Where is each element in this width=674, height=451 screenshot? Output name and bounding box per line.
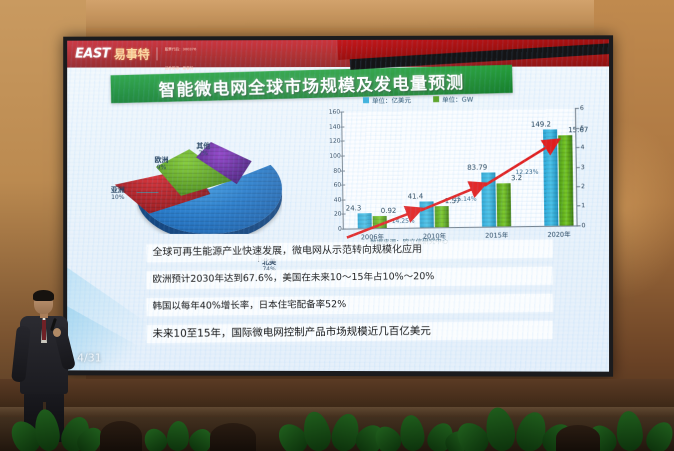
foreground-plant-3 bbox=[384, 415, 462, 451]
y-tick-left-40: 40 bbox=[321, 196, 341, 203]
presenter-hair bbox=[33, 290, 54, 301]
bar-chart-plot-area: 0 20 40 60 80 100 120 140 160 0 1 2 3 4 … bbox=[341, 108, 577, 230]
y-tick-right-4: 4 bbox=[580, 144, 592, 151]
conference-room-photo: EAST 易事特 股票代码：300376 证券简称：易事特 —— 能源网系统集成… bbox=[0, 0, 674, 451]
y-tick-left-0: 0 bbox=[322, 226, 342, 233]
bullet-line-1: 全球可再生能源产业快速发展，微电网从示范转向规模化应用 bbox=[146, 240, 552, 263]
audience-head-1 bbox=[100, 421, 142, 451]
y-tick-right-6: 6 bbox=[580, 105, 592, 112]
pie-label-other: 其他 7% bbox=[196, 142, 210, 158]
audience-head-3 bbox=[556, 425, 600, 451]
presenter-hand bbox=[53, 328, 61, 337]
bullet-line-2: 欧洲预计2030年达到67.6%，美国在未来10～15年占10%～20% bbox=[146, 267, 552, 290]
pie-chart-graphic: 亚洲 10% 欧洲 9% 其他 7% 北美 74% bbox=[113, 130, 280, 234]
logo-chinese-text: 易事特 bbox=[114, 45, 150, 62]
bar-capacity-2006: 0.92 bbox=[373, 216, 387, 228]
x-label-2020: 2020年 bbox=[547, 228, 570, 238]
pie-label-europe-value: 9% bbox=[155, 164, 169, 172]
wall-top bbox=[0, 0, 674, 28]
y-tick-right-3: 3 bbox=[581, 163, 593, 170]
logo-subtext-line2: 证券简称：易事特 bbox=[165, 66, 194, 70]
logo-divider bbox=[157, 47, 158, 60]
bullet-line-3: 韩国以每年40%增长率，日本住宅配备率52% bbox=[146, 294, 552, 316]
bullet-text-block: 全球可再生能源产业快速发展，微电网从示范转向规模化应用 欧洲预计2030年达到6… bbox=[147, 242, 553, 351]
bar-revenue-2006: 24.3 bbox=[358, 213, 372, 228]
presenter-tie bbox=[42, 320, 46, 340]
logo-subtext-line1: 股票代码：300376 bbox=[165, 47, 197, 51]
foreground-plant-2 bbox=[290, 411, 376, 451]
y-tick-left-60: 60 bbox=[321, 182, 341, 189]
bar-value-revenue-2006: 24.3 bbox=[346, 204, 362, 212]
bar-value-revenue-2020: 149.2 bbox=[531, 120, 551, 128]
legend-label-capacity: 单位：GW bbox=[442, 94, 473, 104]
bar-value-capacity-2006: 0.92 bbox=[381, 207, 397, 215]
bar-capacity-2020: 15.67 bbox=[558, 135, 573, 226]
pie-label-asia-name: 亚洲 bbox=[111, 186, 125, 194]
bar-chart-legend: 单位：亿美元 单位：GW bbox=[363, 94, 473, 106]
logo-subtext: 股票代码：300376 证券简称：易事特 bbox=[165, 39, 197, 73]
audience-head-2 bbox=[210, 423, 256, 451]
bar-revenue-2010: 41.4 bbox=[420, 201, 434, 227]
x-label-2015: 2015年 bbox=[485, 229, 508, 239]
bar-value-revenue-2010: 41.4 bbox=[408, 192, 424, 200]
presentation-slide: EAST 易事特 股票代码：300376 证券简称：易事特 —— 能源网系统集成… bbox=[67, 39, 609, 371]
slide-page-number: 4/31 bbox=[77, 351, 102, 364]
company-logo: EAST 易事特 股票代码：300376 证券简称：易事特 bbox=[67, 39, 196, 73]
pie-label-europe-name: 欧洲 bbox=[155, 156, 169, 164]
pie-label-asia: 亚洲 10% bbox=[111, 186, 125, 202]
pie-leader-line-asia bbox=[137, 192, 159, 193]
bar-revenue-2015: 83.79 bbox=[481, 172, 496, 226]
bar-capacity-2010: 1.57 bbox=[435, 206, 449, 227]
y-tick-left-100: 100 bbox=[321, 152, 341, 159]
bar-chart: 单位：亿美元 单位：GW 0 20 40 60 80 100 120 bbox=[311, 90, 602, 252]
bar-group-2006: 24.3 0.92 2006年 bbox=[358, 213, 387, 228]
bullet-line-4: 未来10至15年，国际微电网控制产品市场规模近几百亿美元 bbox=[146, 321, 552, 343]
pie-label-other-name: 其他 bbox=[196, 142, 210, 150]
pie-chart: 亚洲 10% 欧洲 9% 其他 7% 北美 74% bbox=[79, 96, 314, 246]
legend-item-capacity: 单位：GW bbox=[433, 94, 473, 105]
pie-label-other-value: 7% bbox=[196, 150, 210, 158]
logo-east-text: EAST bbox=[75, 47, 110, 62]
pie-label-asia-value: 10% bbox=[111, 194, 125, 202]
y-tick-left-20: 20 bbox=[322, 211, 342, 218]
annotation-growth-1: 14.25% bbox=[392, 218, 415, 225]
foreground-plant-5 bbox=[600, 411, 674, 451]
pie-label-europe: 欧洲 9% bbox=[155, 156, 169, 172]
foreground-plant-6 bbox=[150, 421, 210, 451]
legend-item-revenue: 单位：亿美元 bbox=[363, 94, 411, 105]
slide-header-bar: EAST 易事特 股票代码：300376 证券简称：易事特 —— 能源网系统集成… bbox=[67, 39, 609, 67]
bar-value-revenue-2015: 83.79 bbox=[467, 163, 487, 171]
y-tick-left-80: 80 bbox=[321, 167, 341, 174]
y-tick-left-140: 140 bbox=[320, 123, 340, 130]
bar-value-capacity-2020: 15.67 bbox=[568, 126, 588, 134]
legend-label-revenue: 单位：亿美元 bbox=[372, 94, 411, 105]
y-tick-right-1: 1 bbox=[581, 203, 593, 210]
y-tick-left-120: 120 bbox=[321, 138, 341, 145]
foreground-plant-1 bbox=[22, 409, 92, 451]
bar-capacity-2015: 3.2 bbox=[497, 183, 512, 226]
annotation-growth-2: 15.14% bbox=[454, 196, 477, 203]
bar-revenue-2020: 149.2 bbox=[543, 129, 558, 225]
y-tick-right-0: 0 bbox=[582, 222, 594, 229]
y-tick-right-2: 2 bbox=[581, 183, 593, 190]
y-tick-left-160: 160 bbox=[320, 109, 340, 116]
projection-screen: EAST 易事特 股票代码：300376 证券简称：易事特 —— 能源网系统集成… bbox=[63, 35, 613, 376]
bar-group-2015: 83.79 3.2 2015年 bbox=[481, 172, 511, 227]
foreground-plant-4 bbox=[470, 407, 562, 451]
legend-swatch-revenue bbox=[363, 97, 369, 103]
legend-swatch-capacity bbox=[433, 96, 439, 102]
bar-group-2020: 149.2 15.67 2020年 bbox=[543, 129, 574, 226]
annotation-growth-3: 12.23% bbox=[515, 169, 538, 176]
bar-group-2010: 41.4 1.57 2010年 bbox=[420, 201, 449, 227]
